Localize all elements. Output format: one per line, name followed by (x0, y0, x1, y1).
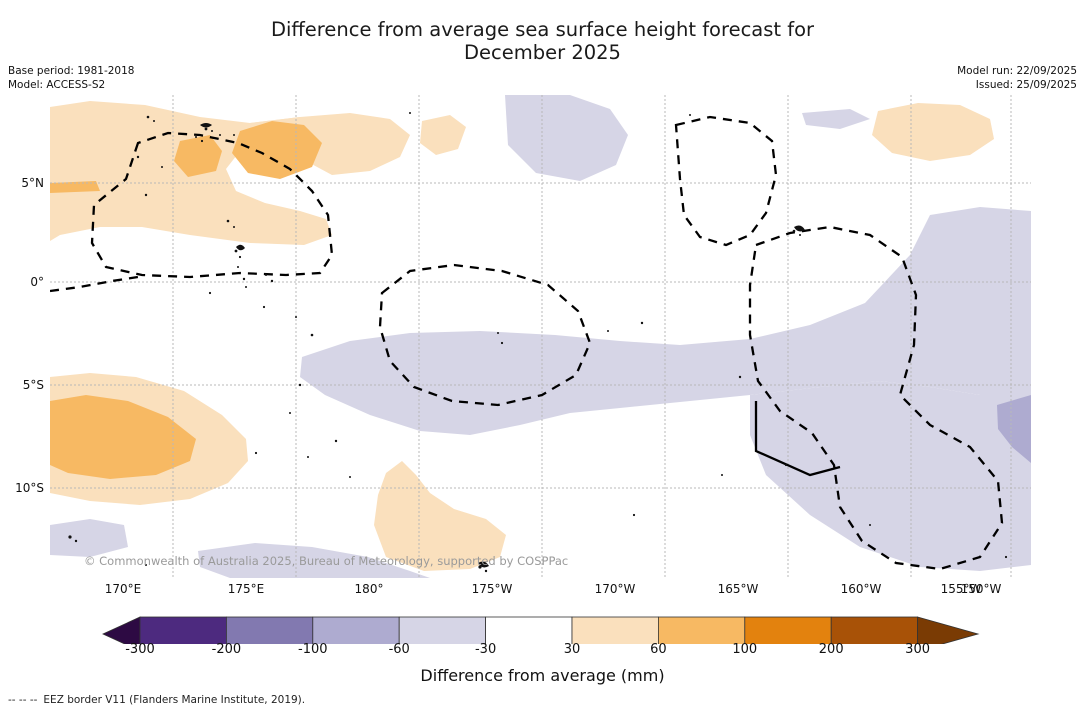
colorbar-tick-30: 30 (564, 642, 581, 657)
page-title: Difference from average sea surface heig… (0, 18, 1085, 64)
colorbar-swatches (0, 612, 1085, 644)
latitude-axis: 5°N 0° 5°S 10°S (0, 95, 44, 578)
colorbar-tick--100: -100 (298, 642, 328, 657)
colorbar-extend-min (103, 617, 140, 644)
colorbar-tick-300: 300 (905, 642, 930, 657)
title-line-2: December 2025 (0, 41, 1085, 64)
colorbar-seg--300--200 (140, 617, 226, 644)
xtick-150W: 150°W (961, 582, 1002, 596)
ytick-5S: 5°S (23, 378, 44, 392)
metadata-right: Model run: 22/09/2025 Issued: 25/09/2025 (957, 64, 1077, 92)
title-line-1: Difference from average sea surface heig… (0, 18, 1085, 41)
colorbar-seg--60--30 (399, 617, 485, 644)
colorbar-seg-100-200 (745, 617, 831, 644)
xtick-175W: 175°W (472, 582, 513, 596)
longitude-axis: 170°E 175°E 180° 175°W 170°W 165°W 160°W… (50, 582, 1031, 602)
colorbar: -300 -200 -100 -60 -30 30 60 100 200 300 (0, 612, 1085, 652)
map-plot-area: © Commonwealth of Australia 2025, Bureau… (50, 95, 1031, 578)
xtick-170W: 170°W (595, 582, 636, 596)
eez-legend: -- -- -- EEZ border V11 (Flanders Marine… (8, 694, 305, 706)
colorbar-seg--30-30 (486, 617, 572, 644)
colorbar-tick--30: -30 (475, 642, 496, 657)
colorbar-seg-60-100 (658, 617, 744, 644)
colorbar-tick-60: 60 (650, 642, 667, 657)
colorbar-seg--100--60 (313, 617, 399, 644)
colorbar-tick--200: -200 (212, 642, 242, 657)
ytick-0: 0° (30, 275, 44, 289)
xtick-180: 180° (355, 582, 384, 596)
colorbar-tick--300: -300 (125, 642, 155, 657)
base-period-text: Base period: 1981-2018 (8, 64, 134, 78)
model-run-text: Model run: 22/09/2025 (957, 64, 1077, 78)
colorbar-tick-100: 100 (732, 642, 757, 657)
colorbar-seg--200--100 (226, 617, 312, 644)
colorbar-seg-200-300 (831, 617, 917, 644)
xtick-160W: 160°W (841, 582, 882, 596)
map-canvas (50, 95, 1031, 578)
eez-legend-text: EEZ border V11 (Flanders Marine Institut… (43, 694, 305, 706)
colorbar-tick--60: -60 (389, 642, 410, 657)
metadata-left: Base period: 1981-2018 Model: ACCESS-S2 (8, 64, 134, 92)
ytick-10S: 10°S (15, 481, 44, 495)
colorbar-extend-max (918, 617, 978, 644)
colorbar-seg-30-60 (572, 617, 658, 644)
colorbar-axis-label: Difference from average (mm) (0, 666, 1085, 685)
dashed-line-key: -- -- -- (8, 694, 37, 706)
ytick-5N: 5°N (21, 176, 44, 190)
issued-text: Issued: 25/09/2025 (957, 78, 1077, 92)
xtick-165W: 165°W (718, 582, 759, 596)
xtick-170E: 170°E (105, 582, 142, 596)
model-text: Model: ACCESS-S2 (8, 78, 134, 92)
xtick-175E: 175°E (228, 582, 265, 596)
colorbar-tick-200: 200 (819, 642, 844, 657)
